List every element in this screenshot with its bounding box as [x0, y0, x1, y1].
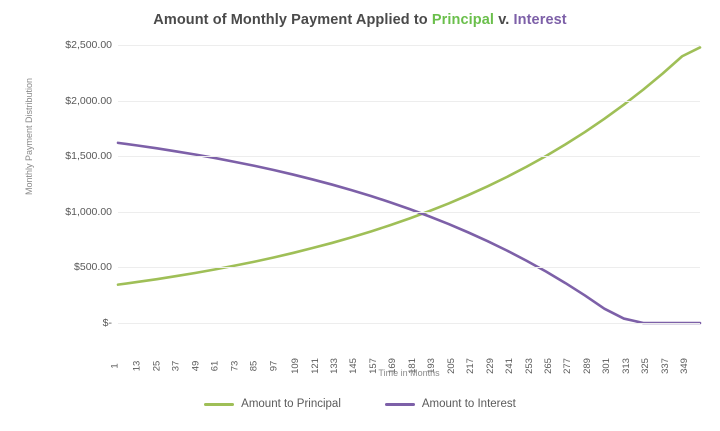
legend-item-label: Amount to Principal: [241, 398, 341, 410]
legend-item[interactable]: Amount to Principal: [204, 398, 341, 410]
gridline: [118, 212, 700, 213]
chart-title-part-1: Amount of Monthly Payment Applied to: [153, 12, 432, 28]
x-axis-title: Time in Months: [118, 368, 700, 378]
legend-item-label: Amount to Interest: [422, 398, 516, 410]
plot-area: [118, 45, 700, 323]
chart-title-part-interest: Interest: [514, 12, 567, 28]
y-axis-tick-label: $1,000.00: [65, 206, 112, 218]
y-axis-tick-label: $-: [103, 317, 112, 329]
legend-item[interactable]: Amount to Interest: [385, 398, 516, 410]
legend-line-swatch: [204, 403, 234, 406]
chart-title: Amount of Monthly Payment Applied to Pri…: [0, 12, 720, 28]
series-line: [118, 143, 700, 323]
gridline: [118, 323, 700, 324]
gridline: [118, 45, 700, 46]
amortization-line-chart: Amount of Monthly Payment Applied to Pri…: [0, 0, 720, 431]
y-axis-tick-label: $500.00: [74, 261, 112, 273]
series-line: [118, 47, 700, 284]
y-axis-tick-label: $2,500.00: [65, 39, 112, 51]
legend-line-swatch: [385, 403, 415, 406]
plot-svg: [118, 45, 700, 323]
gridline: [118, 101, 700, 102]
y-axis-tick-label: $1,500.00: [65, 150, 112, 162]
y-axis-tick-labels: $2,500.00$2,000.00$1,500.00$1,000.00$500…: [28, 40, 116, 330]
y-axis-title-wrapper: Monthly Payment Distribution: [14, 90, 28, 280]
gridline: [118, 156, 700, 157]
chart-title-part-3: v.: [494, 12, 513, 28]
gridline: [118, 267, 700, 268]
chart-legend: Amount to PrincipalAmount to Interest: [0, 398, 720, 410]
chart-title-part-principal: Principal: [432, 12, 494, 28]
y-axis-tick-label: $2,000.00: [65, 95, 112, 107]
x-axis-tick-labels: 1132537496173859710912113314515716918119…: [118, 326, 700, 368]
